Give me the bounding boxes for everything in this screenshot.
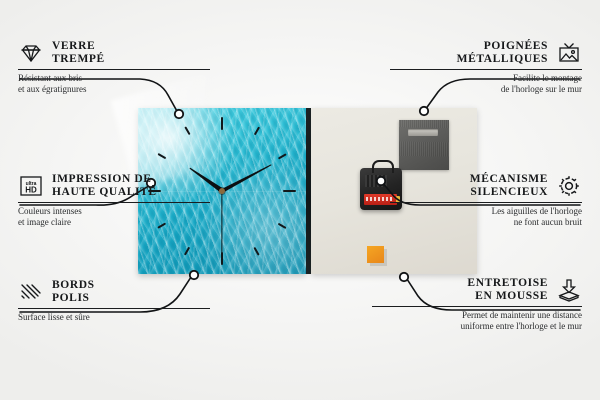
svg-text:HD: HD <box>25 186 37 195</box>
feature-title-line2: HAUTE QUALITÉ <box>52 186 157 199</box>
feature-title-line2: POLIS <box>52 292 95 305</box>
clock-tick <box>278 223 287 229</box>
feature-title-line2: TREMPÉ <box>52 53 105 66</box>
feature-subtitle-line1: Permet de maintenir une distance <box>372 310 582 321</box>
clock-sec-hand <box>221 191 222 253</box>
feature-poignees-metalliques: POIGNÉES MÉTALLIQUES Facilite le montage… <box>390 40 582 95</box>
clock-tick <box>278 153 287 159</box>
clock-min-hand <box>221 163 272 193</box>
feature-title-line1: POIGNÉES <box>457 40 548 53</box>
foam-spacer <box>367 246 384 263</box>
foam-spacer-arrow-icon <box>556 277 582 303</box>
feature-subtitle-line1: Couleurs intenses <box>18 206 210 217</box>
clock-tick <box>221 252 223 265</box>
feature-divider <box>390 202 582 203</box>
feature-subtitle-line2: et image claire <box>18 217 210 228</box>
feature-subtitle-line1: Les aiguilles de l'horloge <box>390 206 582 217</box>
feature-subtitle-line2: ne font aucun bruit <box>390 217 582 228</box>
feature-divider <box>390 69 582 70</box>
feature-divider <box>18 69 210 70</box>
feature-bords-polis: BORDS POLIS Surface lisse et sûre <box>18 279 210 323</box>
feature-divider <box>18 308 210 309</box>
bracket-slot <box>408 129 438 136</box>
feature-title-line2: EN MOUSSE <box>467 290 548 303</box>
diamond-icon <box>18 40 44 66</box>
feature-title-line2: MÉTALLIQUES <box>457 53 548 66</box>
clock-tick <box>184 247 190 256</box>
gear-icon <box>556 173 582 199</box>
battery-label <box>366 197 392 201</box>
clock-tick <box>184 127 190 136</box>
mechanism-hanging-loop <box>372 160 394 173</box>
feature-title-line1: ENTRETOISE <box>467 277 548 290</box>
feature-entretoise-en-mousse: ENTRETOISE EN MOUSSE Permet de maintenir… <box>372 277 582 332</box>
feature-verre-trempe: VERRE TREMPÉ Résistant aux bris et aux é… <box>18 40 210 95</box>
feature-divider <box>18 202 210 203</box>
feature-subtitle-line2: de l'horloge sur le mur <box>390 84 582 95</box>
polished-edges-icon <box>18 279 44 305</box>
feature-title-line2: SILENCIEUX <box>470 186 548 199</box>
feature-title-line1: MÉCANISME <box>470 173 548 186</box>
metal-hanging-bracket <box>399 120 449 170</box>
clock-center-cap <box>219 188 225 194</box>
mechanism-grill <box>365 175 387 187</box>
feature-subtitle-line1: Surface lisse et sûre <box>18 312 210 323</box>
feature-title-line1: IMPRESSION DE <box>52 173 157 186</box>
feature-subtitle-line2: uniforme entre l'horloge et le mur <box>372 321 582 332</box>
feature-divider <box>372 306 582 307</box>
feature-subtitle-line1: Facilite le montage <box>390 73 582 84</box>
feature-mecanisme-silencieux: MÉCANISME SILENCIEUX Les aiguilles de l'… <box>390 173 582 228</box>
ultra-hd-icon: ultra HD <box>18 173 44 199</box>
clock-tick <box>158 153 167 159</box>
feature-title-line1: VERRE <box>52 40 105 53</box>
feature-subtitle-line2: et aux égratignures <box>18 84 210 95</box>
clock-tick <box>221 117 223 130</box>
feature-subtitle-line1: Résistant aux bris <box>18 73 210 84</box>
clock-tick <box>254 247 260 256</box>
feature-title-line1: BORDS <box>52 279 95 292</box>
picture-frame-hanger-icon <box>556 40 582 66</box>
clock-tick <box>254 127 260 136</box>
clock-tick <box>283 190 296 192</box>
feature-impression-haute-qualite: ultra HD IMPRESSION DE HAUTE QUALITÉ Cou… <box>18 173 210 228</box>
